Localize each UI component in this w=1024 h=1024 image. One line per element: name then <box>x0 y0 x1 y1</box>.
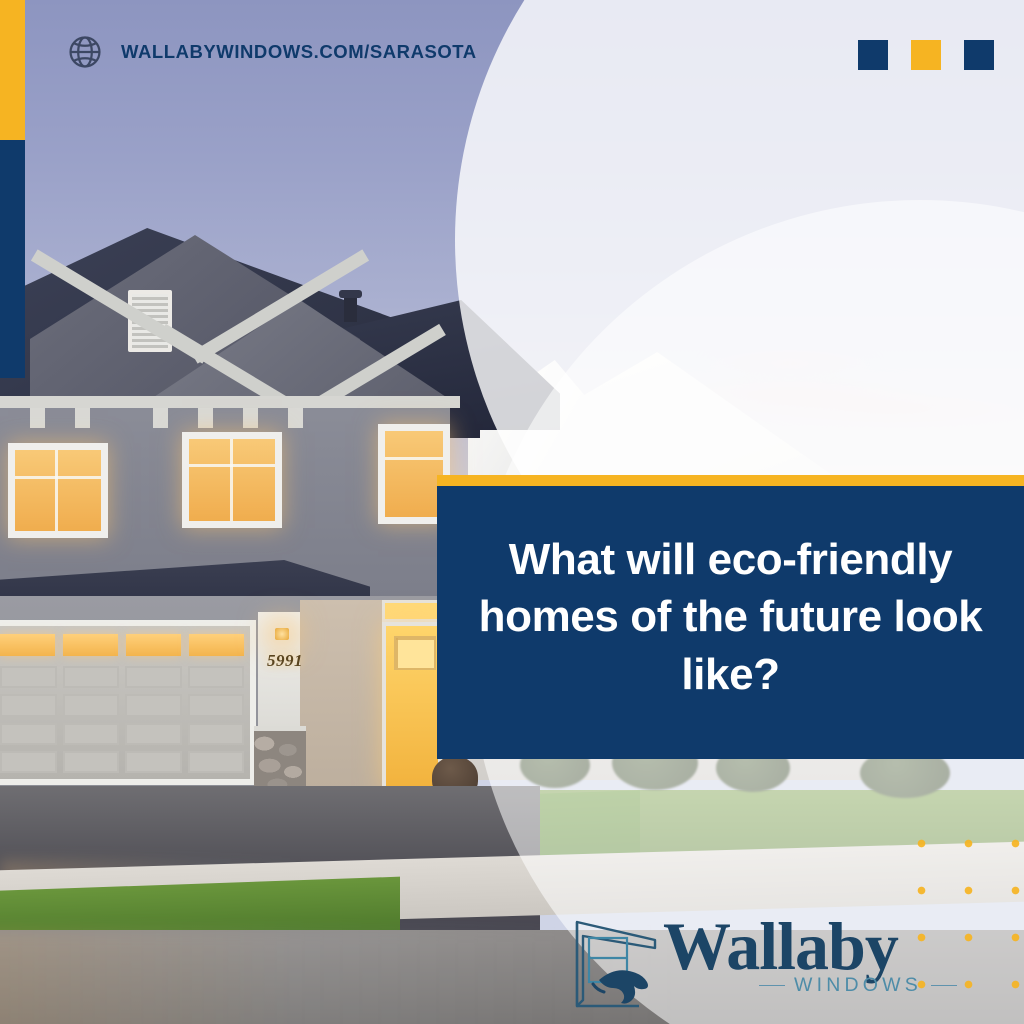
garage-lite <box>63 634 118 656</box>
headline-box: What will eco-friendly homes of the futu… <box>437 475 1024 759</box>
garage-door <box>0 620 256 785</box>
decorative-squares <box>858 40 994 70</box>
front-door <box>382 622 442 790</box>
garage-lite <box>126 634 181 656</box>
corbel <box>30 408 45 428</box>
garage-lite <box>189 634 244 656</box>
garage-window-row <box>0 634 244 656</box>
headline-text: What will eco-friendly homes of the futu… <box>437 531 1024 703</box>
corbel <box>243 408 258 428</box>
door-window <box>394 636 436 670</box>
house-number: 5991 <box>262 648 308 674</box>
logo-subtext-row: WINDOWS <box>759 974 957 997</box>
logo-wordmark: Wallaby <box>663 912 898 980</box>
corbel <box>198 408 213 428</box>
headline-accent-bar <box>437 475 1024 486</box>
door-transom <box>382 600 442 622</box>
porch-light-icon <box>275 628 289 640</box>
globe-icon <box>68 35 102 69</box>
corbel <box>75 408 90 428</box>
upper-window-center <box>182 432 282 528</box>
eave-trim <box>0 396 460 408</box>
left-bar-yellow <box>0 0 25 140</box>
website-url-row[interactable]: WALLABYWINDOWS.COM/SARASOTA <box>68 35 477 69</box>
roof-vent <box>344 296 357 322</box>
square-yellow <box>911 40 941 70</box>
website-url-text: WALLABYWINDOWS.COM/SARASOTA <box>121 41 477 63</box>
corbel <box>153 408 168 428</box>
garage-panel-grid <box>0 666 244 773</box>
upper-window-left <box>8 443 108 538</box>
logo[interactable]: Wallaby WINDOWS <box>563 908 908 1016</box>
corbel <box>288 408 303 428</box>
garage-lite <box>0 634 55 656</box>
window-and-kangaroo-icon <box>563 914 673 1014</box>
stone-veneer <box>254 726 306 794</box>
cloud <box>700 350 880 376</box>
social-graphic-canvas: 5991 WALLABYWINDOWS.COM/SARA <box>0 0 1024 1024</box>
logo-subtext: WINDOWS <box>794 974 922 997</box>
cloud <box>760 392 1024 426</box>
logo-rule-right <box>931 985 957 987</box>
square-navy-2 <box>964 40 994 70</box>
left-bar-navy <box>0 140 25 378</box>
square-navy-1 <box>858 40 888 70</box>
logo-rule-left <box>759 985 785 987</box>
